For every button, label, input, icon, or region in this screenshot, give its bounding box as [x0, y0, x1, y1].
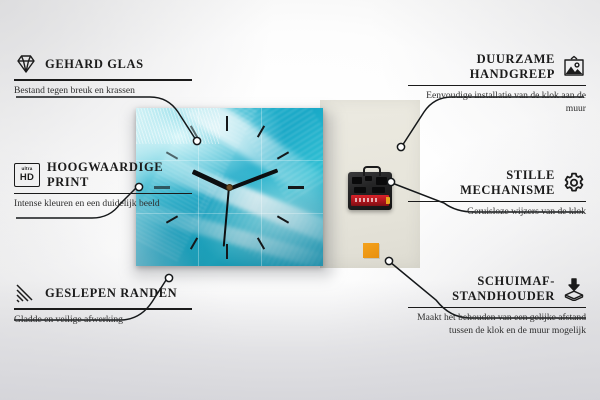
callout-subtitle: Bestand tegen breuk en krassen: [14, 85, 192, 98]
callout-geslepen-randen: GESLEPEN RANDEN Gladde en veilige afwerk…: [14, 281, 192, 327]
callout-rule: [14, 193, 192, 195]
battery-terminal: [386, 197, 390, 204]
movement-slot: [352, 177, 362, 184]
battery-label: [355, 198, 379, 202]
diamond-icon: [14, 52, 38, 76]
ultra-hd-badge-main: HD: [20, 173, 34, 183]
callout-title: DUURZAME HANDGREEP: [408, 52, 555, 82]
battery: [351, 195, 389, 206]
gear-icon: [562, 171, 586, 195]
callout-title: GESLEPEN RANDEN: [45, 286, 192, 301]
callout-header: ultra HD HOOGWAARDIGE PRINT: [14, 160, 192, 190]
infographic-canvas: GEHARD GLAS Bestand tegen breuk en krass…: [0, 0, 600, 400]
callout-stille-mechanisme: STILLE MECHANISME Geruisloze wijzers van…: [408, 168, 586, 219]
callout-rule: [408, 201, 586, 203]
hour-marker: [226, 116, 228, 131]
movement-slot: [365, 176, 372, 181]
callout-duurzame-handgreep: DUURZAME HANDGREEP Eenvoudige installati…: [408, 52, 586, 116]
callout-header: DUURZAME HANDGREEP: [408, 52, 586, 82]
callout-subtitle: Intense kleuren en een duidelijk beeld: [14, 198, 192, 211]
callout-schuimafstandhouder: SCHUIMAF- STANDHOUDER Maakt het behouden…: [408, 274, 586, 338]
callout-rule: [408, 85, 586, 87]
movement-slot: [376, 177, 387, 185]
callout-hoogwaardige-print: ultra HD HOOGWAARDIGE PRINT Intense kleu…: [14, 160, 192, 211]
clock-movement: [348, 172, 392, 210]
ultra-hd-icon: ultra HD: [14, 163, 40, 187]
callout-title: STILLE MECHANISME: [408, 168, 555, 198]
callout-header: GEHARD GLAS: [14, 52, 192, 76]
hour-marker: [288, 186, 304, 189]
beveled-edges-icon: [14, 281, 38, 305]
hour-marker: [226, 244, 228, 259]
callout-header: GESLEPEN RANDEN: [14, 281, 192, 305]
clock-hub: [226, 184, 233, 191]
callout-subtitle: Eenvoudige installatie van de klok aan d…: [408, 90, 586, 116]
foam-spacer-pad: [363, 243, 379, 258]
movement-slot: [372, 187, 385, 193]
callout-title: GEHARD GLAS: [45, 57, 192, 72]
callout-subtitle: Maakt het behouden van een gelijke afsta…: [408, 312, 586, 338]
callout-header: SCHUIMAF- STANDHOUDER: [408, 274, 586, 304]
callout-title: SCHUIMAF- STANDHOUDER: [408, 274, 555, 304]
callout-rule: [408, 307, 586, 309]
callout-header: STILLE MECHANISME: [408, 168, 586, 198]
movement-hanger: [363, 166, 381, 176]
hour-marker: [277, 151, 289, 159]
callout-subtitle: Geruisloze wijzers van de klok: [408, 206, 586, 219]
callout-gehard-glas: GEHARD GLAS Bestand tegen breuk en krass…: [14, 52, 192, 98]
movement-slot: [354, 187, 366, 193]
callout-rule: [14, 308, 192, 310]
callout-subtitle: Gladde en veilige afwerking: [14, 314, 192, 327]
callout-rule: [14, 79, 192, 81]
callout-title: HOOGWAARDIGE PRINT: [47, 160, 192, 190]
picture-frame-icon: [562, 55, 586, 79]
spacer-down-arrow-icon: [562, 277, 586, 301]
